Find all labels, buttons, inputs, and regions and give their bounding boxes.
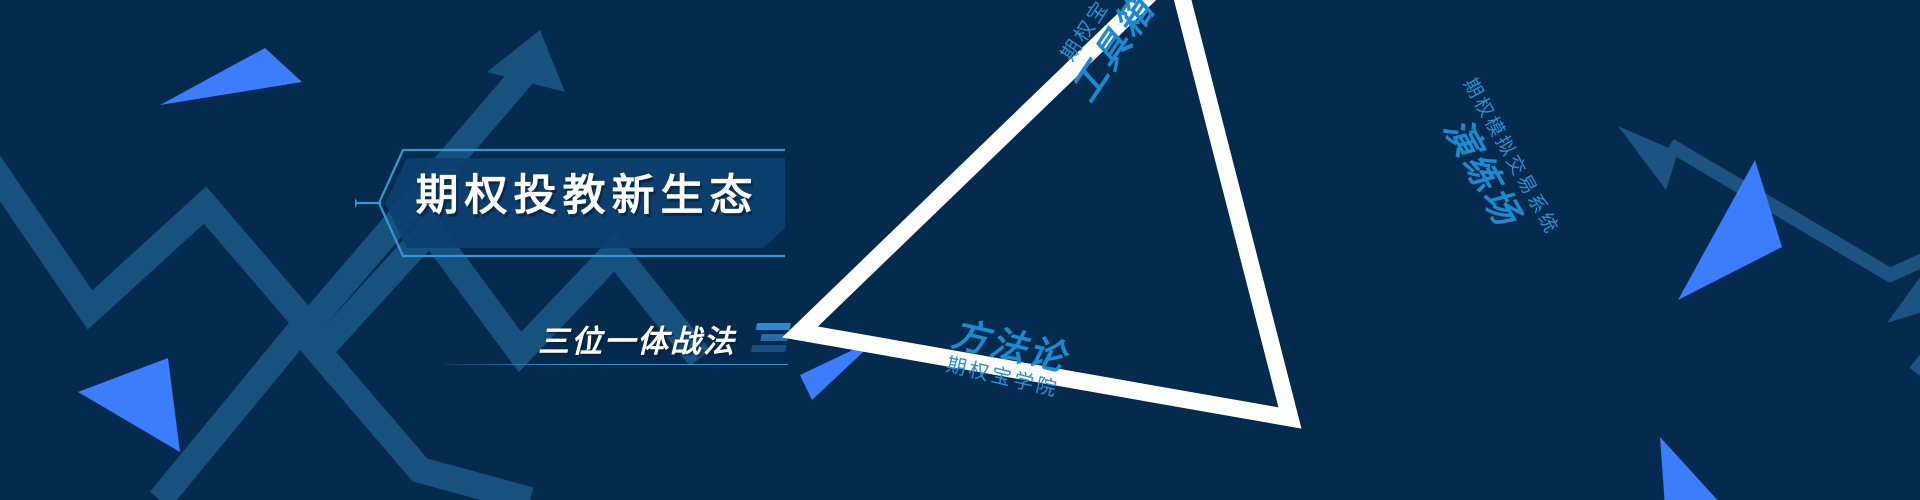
triangle-bottom-left — [78, 358, 180, 452]
triangle-top-left — [160, 48, 302, 105]
connector-dot — [355, 196, 357, 210]
subtitle-divider — [444, 364, 788, 365]
title-block: 期权投教新生态 — [355, 140, 785, 310]
subtitle-row: 三位一体战法 — [444, 315, 788, 361]
subtitle-text: 三位一体战法 — [538, 316, 736, 361]
triangle-bottom-right — [1660, 437, 1722, 500]
page-title: 期权投教新生态 — [407, 158, 767, 226]
promo-banner: 期权投教新生态 三位一体战法 期权宝 工具箱 期权模拟交易系统 演练场 方法论 … — [0, 0, 1920, 500]
